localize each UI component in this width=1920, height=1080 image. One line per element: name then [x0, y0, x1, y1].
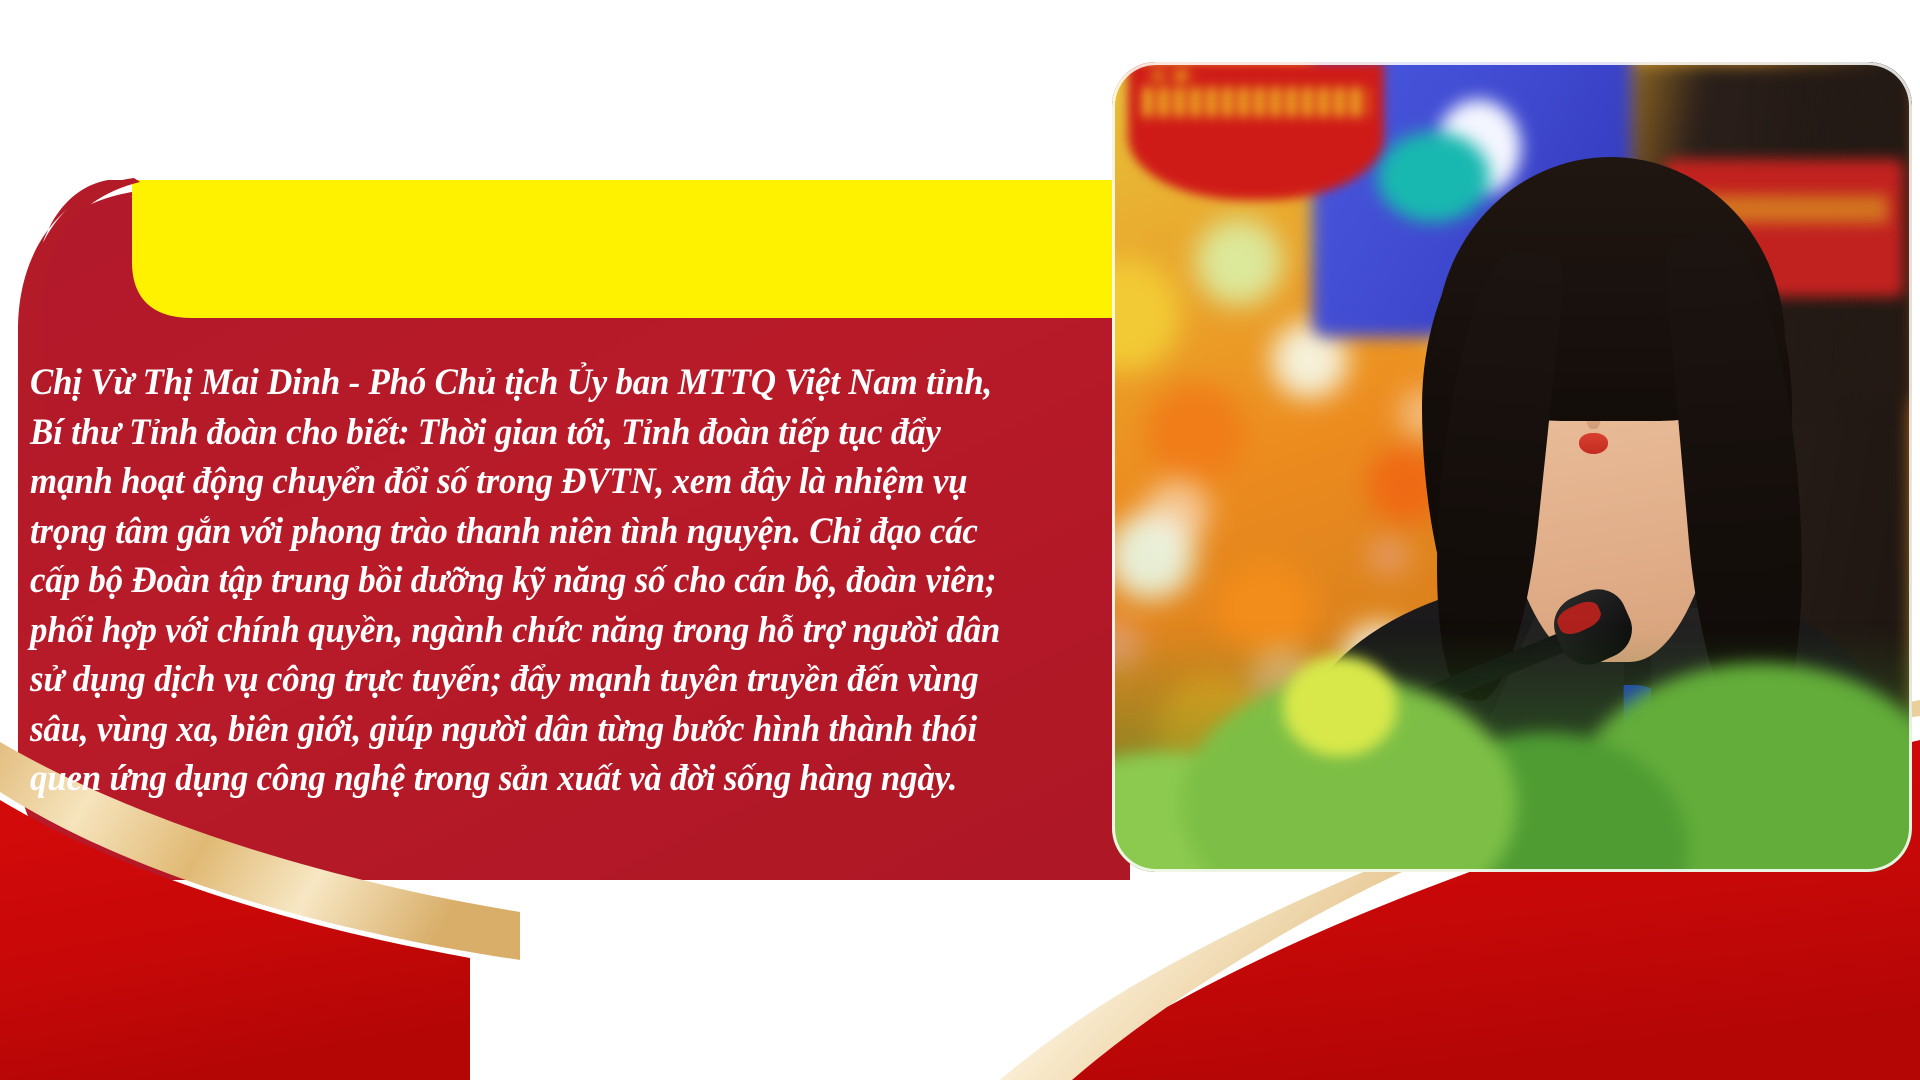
- lips: [1579, 433, 1608, 454]
- yellow-ribbon: [108, 180, 1112, 318]
- quote-block: Chị Vừ Thị Mai Dinh - Phó Chủ tịch Ủy ba…: [30, 358, 1090, 804]
- leaf-highlight: [1280, 653, 1400, 758]
- speaker-photo: [1112, 62, 1912, 872]
- quote-text: Chị Vừ Thị Mai Dinh - Phó Chủ tịch Ủy ba…: [30, 358, 1016, 804]
- photo-content: [1112, 62, 1912, 872]
- infographic-card: Chị Vừ Thị Mai Dinh - Phó Chủ tịch Ủy ba…: [0, 0, 1920, 1080]
- banner-script-text: [1151, 71, 1200, 81]
- foreground-leaves: [1112, 629, 1912, 872]
